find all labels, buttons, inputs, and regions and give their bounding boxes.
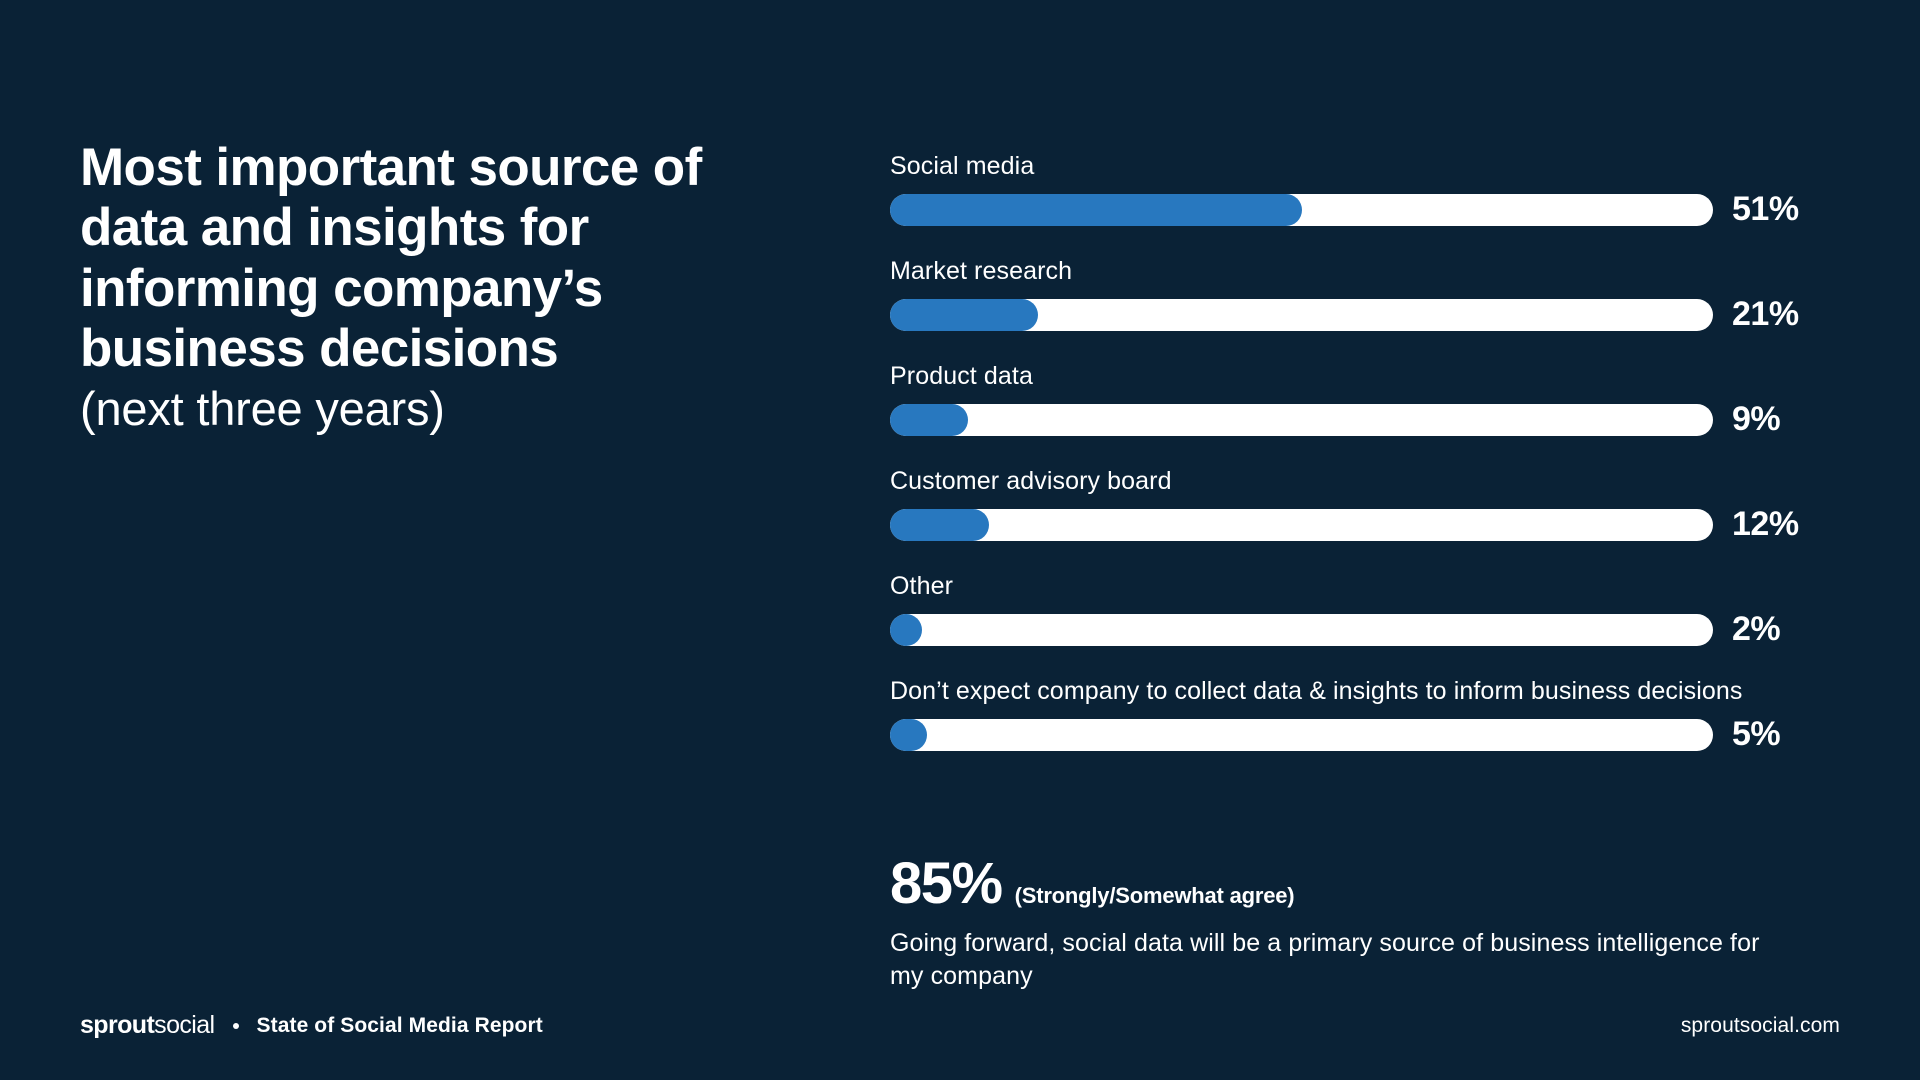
bar-track — [890, 404, 1713, 436]
page-title: Most important source of data and insigh… — [80, 138, 780, 380]
bar-value: 21% — [1732, 295, 1799, 334]
bar-label: Product data — [890, 360, 1850, 392]
infographic-slide: Most important source of data and insigh… — [0, 0, 1920, 1080]
bar-label: Don’t expect company to collect data & i… — [890, 675, 1850, 707]
bar-track — [890, 299, 1713, 331]
bar-label: Other — [890, 570, 1850, 602]
bar-track — [890, 719, 1713, 751]
sprout-social-logo: sproutsocial — [80, 1011, 215, 1040]
bar-line: 5% — [890, 715, 1850, 754]
footer-report-title: State of Social Media Report — [257, 1014, 543, 1038]
bar-row: Don’t expect company to collect data & i… — [890, 675, 1850, 754]
logo-sprout-text: sprout — [80, 1011, 154, 1039]
stat-number: 85% — [890, 855, 1002, 913]
bar-line: 21% — [890, 295, 1850, 334]
bar-row: Customer advisory board 12% — [890, 465, 1850, 544]
bar-value: 51% — [1732, 190, 1799, 229]
bar-line: 12% — [890, 505, 1850, 544]
bar-fill — [890, 719, 927, 751]
bar-value: 9% — [1732, 400, 1780, 439]
bar-label: Social media — [890, 150, 1850, 182]
bar-value: 12% — [1732, 505, 1799, 544]
bar-label: Customer advisory board — [890, 465, 1850, 497]
logo-social-text: social — [154, 1011, 214, 1039]
bar-chart: Social media 51% Market research 21% Pro… — [890, 150, 1850, 780]
bar-track — [890, 509, 1713, 541]
bar-fill — [890, 509, 989, 541]
title-block: Most important source of data and insigh… — [80, 138, 780, 435]
stat-description: Going forward, social data will be a pri… — [890, 927, 1790, 993]
bar-fill — [890, 404, 968, 436]
bar-value: 5% — [1732, 715, 1780, 754]
stat-qualifier: (Strongly/Somewhat agree) — [1015, 883, 1295, 909]
bar-row: Other 2% — [890, 570, 1850, 649]
bar-label: Market research — [890, 255, 1850, 287]
stat-callout: 85% (Strongly/Somewhat agree) Going forw… — [890, 855, 1790, 993]
bar-value: 2% — [1732, 610, 1780, 649]
footer-separator-dot — [233, 1023, 239, 1029]
bar-line: 51% — [890, 190, 1850, 229]
footer-website: sproutsocial.com — [1681, 1014, 1840, 1038]
footer-left: sproutsocial State of Social Media Repor… — [80, 1011, 543, 1040]
bar-track — [890, 614, 1713, 646]
bar-row: Market research 21% — [890, 255, 1850, 334]
bar-line: 2% — [890, 610, 1850, 649]
bar-fill — [890, 299, 1038, 331]
bar-track — [890, 194, 1713, 226]
bar-fill — [890, 194, 1302, 226]
stat-headline: 85% (Strongly/Somewhat agree) — [890, 855, 1790, 913]
bar-fill — [890, 614, 922, 646]
bar-row: Product data 9% — [890, 360, 1850, 439]
bar-row: Social media 51% — [890, 150, 1850, 229]
page-subtitle: (next three years) — [80, 382, 780, 436]
bar-line: 9% — [890, 400, 1850, 439]
